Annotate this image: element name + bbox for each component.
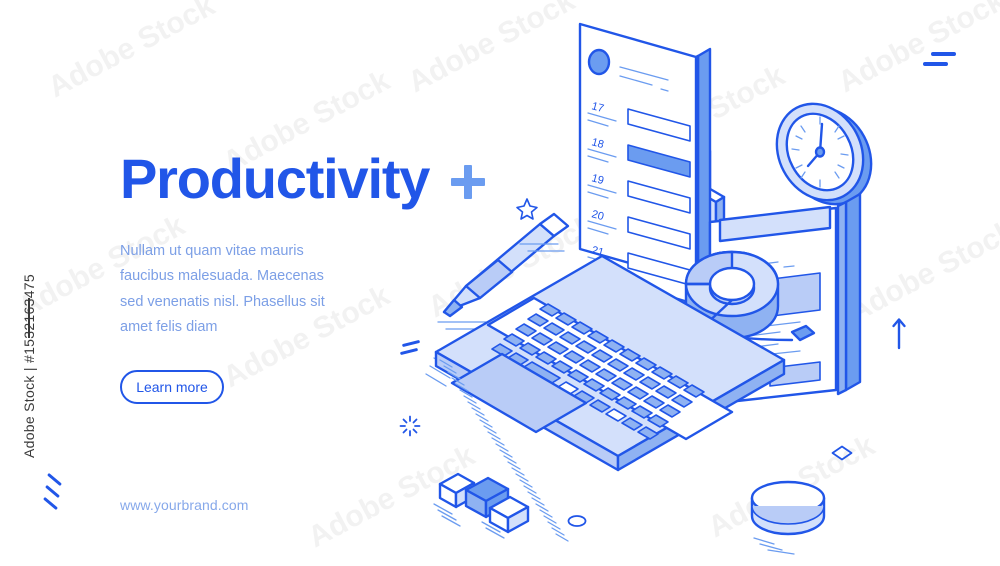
sticky-blocks [434, 474, 528, 538]
hero-banner: Adobe Stock Adobe Stock Adobe Stock Adob… [0, 0, 1000, 566]
hero-body-text: Nullam ut quam vitae mauris faucibus mal… [120, 239, 330, 341]
round-puck [752, 482, 824, 554]
watermark-edge-label: Adobe Stock | #1532163475 [21, 228, 37, 458]
learn-more-button[interactable]: Learn more [120, 370, 224, 404]
brand-url: www.yourbrand.com [120, 497, 249, 513]
watermark-tile: Adobe Stock [43, 0, 221, 105]
isometric-illustration: .st { stroke:#2156e8; stroke-width:2.4; … [380, 10, 1000, 566]
triple-slash-icon [42, 478, 70, 514]
